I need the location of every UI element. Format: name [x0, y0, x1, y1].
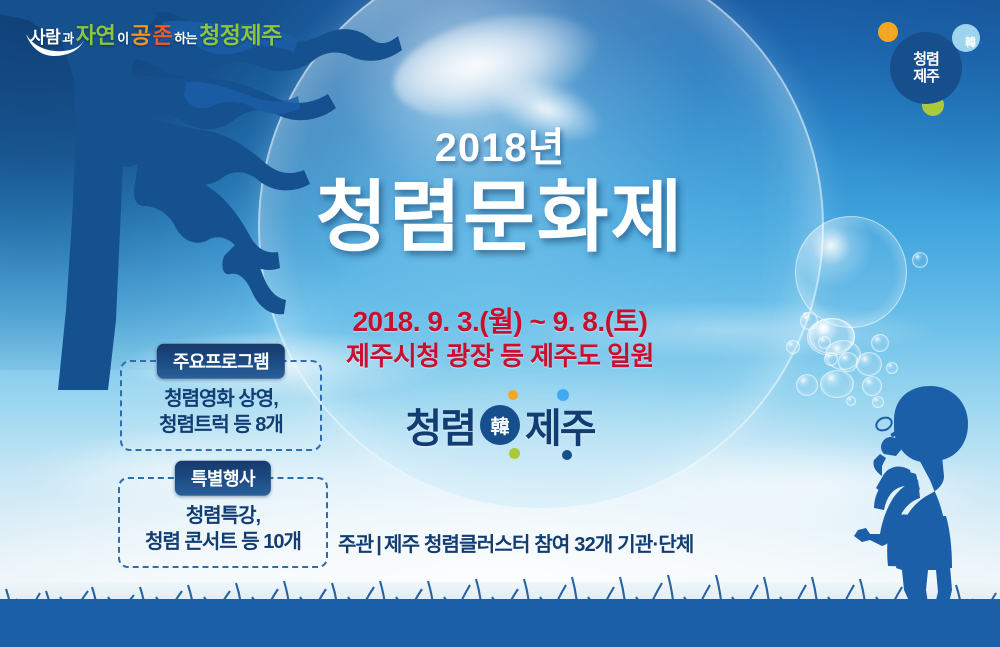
- headline-block: 2018년 청렴문화제: [0, 128, 1000, 256]
- emblem-circle: 청렴 제주: [890, 32, 962, 104]
- swoosh-icon: [24, 30, 86, 56]
- emblem-line-2: 제주: [913, 69, 939, 84]
- info-box-main-program: 주요프로그램 청렴영화 상영, 청렴트럭 등 8개: [120, 360, 322, 451]
- info-box-line-2: 청렴트럭 등 8개: [128, 412, 314, 438]
- wordmark-han-badge: 韓: [480, 405, 520, 445]
- organizer-separator: |: [373, 534, 384, 556]
- headline-year: 2018년: [0, 128, 1000, 168]
- info-box-badge-special-event: 특별행사: [175, 461, 271, 496]
- wordmark-right-text: 제주: [525, 396, 595, 454]
- emblem-line-1: 청렴: [913, 52, 939, 67]
- info-box-line-1: 청렴특강,: [126, 503, 320, 529]
- soap-bubble: [796, 374, 818, 396]
- wordmark-left-text: 청렴: [405, 396, 475, 454]
- poster-canvas: 사람 과 자연 이 공 존 하는 청정제주 청렴 제주 韓 2018년 청렴문화…: [0, 0, 1000, 647]
- organizer-line: 주관|제주 청렴클러스터 참여 32개 기관·단체: [338, 528, 694, 557]
- brand-part-gong: 공: [131, 18, 151, 50]
- info-box-badge-main-program: 주요프로그램: [157, 344, 285, 379]
- wordmark-dot-orange: [508, 390, 518, 400]
- organizer-label: 주관: [338, 534, 373, 556]
- brand-part-cheongjeong-jeju: 청정제주: [199, 16, 282, 50]
- brand-part-haneun: 하는: [174, 28, 197, 47]
- organizer-value: 제주 청렴클러스터 참여 32개 기관·단체: [384, 534, 694, 556]
- brand-part-jon: 존: [152, 18, 172, 50]
- event-date: 2018. 9. 3.(월) ~ 9. 8.(토): [0, 304, 1000, 339]
- jeju-brand-lockup: 사람 과 자연 이 공 존 하는 청정제주: [30, 16, 282, 50]
- info-box-line-1: 청렴영화 상영,: [128, 386, 314, 412]
- info-box-body-main-program: 청렴영화 상영, 청렴트럭 등 8개: [122, 382, 320, 449]
- info-box-line-2: 청렴 콘서트 등 10개: [126, 529, 320, 555]
- emblem-han-character: 韓: [965, 34, 976, 50]
- info-box-special-event: 특별행사 청렴특강, 청렴 콘서트 등 10개: [118, 477, 328, 568]
- emblem-dot-orange: [878, 22, 898, 42]
- brand-part-i: 이: [117, 28, 128, 47]
- info-box-body-special-event: 청렴특강, 청렴 콘서트 등 10개: [120, 499, 326, 566]
- page-title: 청렴문화제: [0, 178, 1000, 256]
- cheongryeom-jeju-emblem: 청렴 제주 韓: [872, 12, 982, 116]
